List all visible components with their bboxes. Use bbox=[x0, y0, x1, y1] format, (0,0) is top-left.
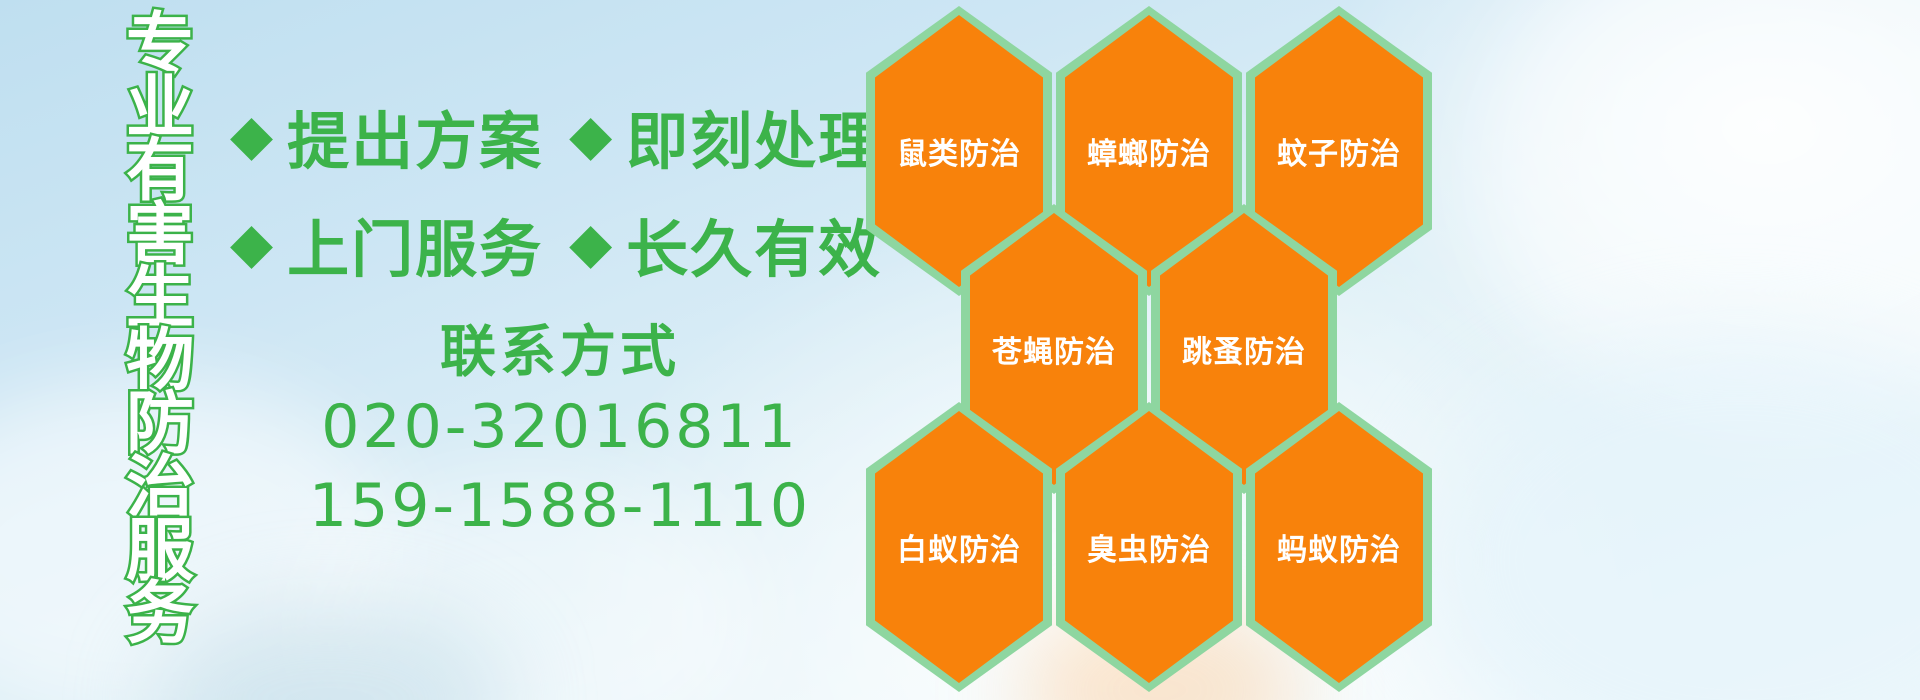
vertical-headline-char: 害 bbox=[126, 204, 194, 267]
contact-phone-mobile[interactable]: 159-1588-1110 bbox=[300, 467, 820, 546]
contact-block: 联系方式 020-32016811 159-1588-1110 bbox=[300, 318, 820, 546]
vertical-headline-char: 服 bbox=[126, 520, 194, 583]
service-hex-label: 蚂蚁防治 bbox=[1277, 525, 1401, 569]
vertical-headline-char: 物 bbox=[126, 330, 194, 393]
diamond-bullet-icon: ◆ bbox=[230, 216, 273, 272]
background-blob bbox=[1420, 330, 1920, 700]
slogan-text: 长久有效 bbox=[626, 199, 882, 289]
slogan-text: 提出方案 bbox=[287, 91, 543, 181]
vertical-headline-char: 有 bbox=[126, 140, 194, 203]
vertical-headline-char: 防 bbox=[126, 393, 194, 456]
vertical-headline-char: 生 bbox=[126, 267, 194, 330]
service-honeycomb: 鼠类防治 蟑螂防治 蚊子防治 苍蝇防治 跳蚤防治 白蚁防治 臭虫防治 蚂蚁防治 bbox=[860, 0, 1460, 700]
slogan-text: 即刻处理 bbox=[626, 91, 882, 181]
vertical-headline-char: 务 bbox=[126, 583, 194, 646]
vertical-headline-char: 专 bbox=[126, 14, 194, 77]
service-hex-label: 鼠类防治 bbox=[897, 129, 1021, 173]
slogan-row: ◆ 提出方案 ◆ 即刻处理 bbox=[230, 82, 870, 190]
vertical-headline-char: 业 bbox=[126, 77, 194, 140]
contact-phone-landline[interactable]: 020-32016811 bbox=[300, 388, 820, 467]
vertical-headline-char: 治 bbox=[126, 457, 194, 520]
service-hex-label: 跳蚤防治 bbox=[1182, 327, 1306, 371]
contact-title: 联系方式 bbox=[300, 318, 820, 388]
background-blob bbox=[150, 600, 510, 700]
vertical-headline: 专 业 有 害 生 物 防 治 服 务 bbox=[108, 14, 212, 574]
service-hex-label: 蚊子防治 bbox=[1277, 129, 1401, 173]
service-hex-label: 白蚁防治 bbox=[897, 525, 1021, 569]
diamond-bullet-icon: ◆ bbox=[230, 108, 273, 164]
pest-control-banner: 专 业 有 害 生 物 防 治 服 务 ◆ 提出方案 ◆ 即刻处理 ◆ 上门服务… bbox=[0, 0, 1920, 700]
service-hex-label: 蟑螂防治 bbox=[1087, 129, 1211, 173]
slogan-row: ◆ 上门服务 ◆ 长久有效 bbox=[230, 190, 870, 298]
diamond-bullet-icon: ◆ bbox=[569, 216, 612, 272]
diamond-bullet-icon: ◆ bbox=[569, 108, 612, 164]
slogan-text: 上门服务 bbox=[287, 199, 543, 289]
service-hex-label: 苍蝇防治 bbox=[992, 327, 1116, 371]
service-hex-label: 臭虫防治 bbox=[1087, 525, 1211, 569]
background-blob bbox=[1480, 0, 1920, 430]
slogan-list: ◆ 提出方案 ◆ 即刻处理 ◆ 上门服务 ◆ 长久有效 bbox=[230, 82, 870, 298]
